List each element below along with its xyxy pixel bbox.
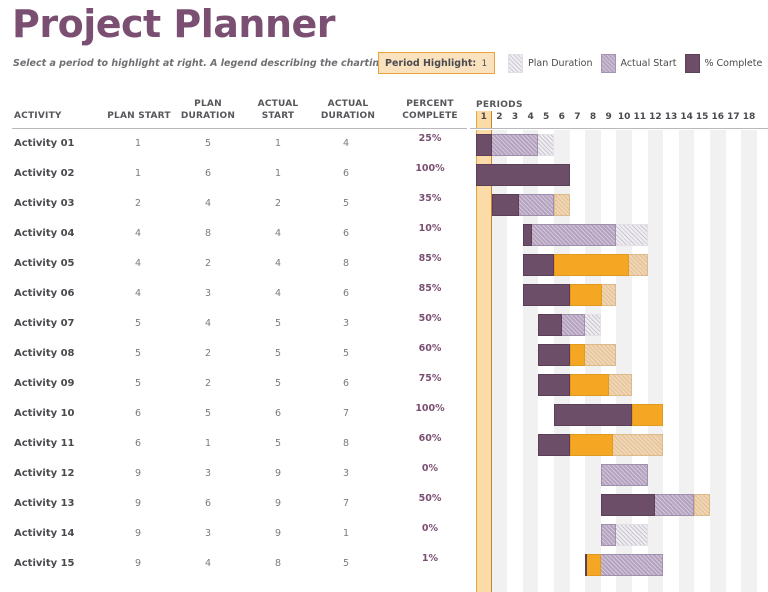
cell-plan-start: 4 [118,288,158,299]
cell-activity: Activity 14 [14,528,75,539]
cell-actual-start: 8 [258,558,298,569]
cell-plan-duration: 3 [188,288,228,299]
period-number-row: 123456789101112131415161718 [470,112,768,128]
cell-plan-start: 9 [118,528,158,539]
cell-actual-duration: 6 [326,168,366,179]
cell-activity: Activity 08 [14,348,75,359]
bar-percent-complete [538,434,569,456]
cell-plan-start: 6 [118,438,158,449]
cell-actual-start: 2 [258,198,298,209]
cell-actual-start: 1 [258,168,298,179]
page-subtitle: Select a period to highlight at right. A… [13,58,431,69]
bar-actual-start [601,524,617,546]
bar-overrun-complete [570,284,603,306]
cell-plan-start: 1 [118,138,158,149]
gantt-row [470,490,768,520]
bar-overrun-plan [694,494,710,516]
legend-item-plan-duration: Plan Duration [508,54,593,73]
bar-percent-complete [523,254,554,276]
legend-item-percent-complete: % Complete [685,54,763,73]
cell-actual-duration: 4 [326,138,366,149]
gantt-row [470,400,768,430]
cell-plan-duration: 3 [188,528,228,539]
gantt-bars-layer [470,130,768,592]
cell-plan-duration: 5 [188,138,228,149]
cell-activity: Activity 02 [14,168,75,179]
cell-actual-duration: 3 [326,468,366,479]
cell-actual-start: 4 [258,288,298,299]
cell-actual-duration: 7 [326,498,366,509]
column-header-plan-duration: PLANDURATION [172,98,244,122]
column-header-actual-duration: ACTUALDURATION [310,98,386,122]
cell-plan-start: 9 [118,498,158,509]
bar-actual-early [585,554,601,576]
period-highlight-label: Period Highlight: [385,58,476,69]
cell-percent-complete: 60% [403,433,457,444]
bar-percent-complete [523,284,570,306]
cell-actual-duration: 6 [326,228,366,239]
table-header-row: ACTIVITY PLAN START PLANDURATION ACTUALS… [0,92,470,126]
cell-actual-start: 9 [258,498,298,509]
cell-percent-complete: 75% [403,373,457,384]
cell-activity: Activity 13 [14,498,75,509]
cell-plan-start: 5 [118,318,158,329]
period-number-1[interactable]: 1 [476,111,492,128]
gantt-chart [470,130,768,592]
cell-activity: Activity 01 [14,138,75,149]
cell-percent-complete: 25% [403,133,457,144]
table-row[interactable]: Activity 1493910% [0,520,470,550]
gantt-row [470,250,768,280]
cell-percent-complete: 100% [403,403,457,414]
cell-actual-start: 5 [258,378,298,389]
period-number-8[interactable]: 8 [585,112,601,122]
legend-swatch-actual-start-icon [601,54,616,73]
cell-activity: Activity 09 [14,378,75,389]
cell-actual-start: 6 [258,408,298,419]
bar-overrun-plan [554,194,570,216]
table-header-divider [12,128,467,129]
cell-plan-start: 6 [118,408,158,419]
period-number-4[interactable]: 4 [523,112,539,122]
bar-overrun-complete [570,434,614,456]
cell-activity: Activity 05 [14,258,75,269]
cell-plan-duration: 4 [188,558,228,569]
chart-legend: Plan DurationActual Start% Complete [508,54,768,73]
bar-percent-complete [476,164,570,186]
gantt-row [470,160,768,190]
period-number-7[interactable]: 7 [570,112,586,122]
legend-item-actual-start: Actual Start [601,54,677,73]
cell-percent-complete: 50% [403,493,457,504]
bar-overrun-complete [554,254,629,276]
table-row[interactable]: Activity 07545350% [0,310,470,340]
cell-plan-start: 9 [118,468,158,479]
column-header-plan-start: PLAN START [100,110,178,122]
cell-actual-start: 5 [258,438,298,449]
cell-activity: Activity 04 [14,228,75,239]
period-number-2[interactable]: 2 [492,112,508,122]
column-header-actual-start: ACTUALSTART [242,98,314,122]
bar-percent-complete [538,314,561,336]
cell-activity: Activity 06 [14,288,75,299]
period-number-13[interactable]: 13 [663,112,679,122]
legend-swatch-plan-duration-icon [508,54,523,73]
table-row[interactable]: Activity 021616100% [0,160,470,190]
cell-plan-start: 9 [118,558,158,569]
cell-percent-complete: 50% [403,313,457,324]
table-row[interactable]: Activity 09525675% [0,370,470,400]
period-number-15[interactable]: 15 [694,112,710,122]
period-number-12[interactable]: 12 [648,112,664,122]
periods-label: PERIODS [476,100,523,110]
period-number-9[interactable]: 9 [601,112,617,122]
period-highlight-input[interactable]: 1 [482,59,487,69]
cell-plan-duration: 6 [188,168,228,179]
gantt-row [470,220,768,250]
cell-plan-duration: 4 [188,318,228,329]
cell-percent-complete: 0% [403,523,457,534]
cell-activity: Activity 03 [14,198,75,209]
gantt-row [470,310,768,340]
gantt-row [470,520,768,550]
cell-activity: Activity 15 [14,558,75,569]
table-row[interactable]: Activity 05424885% [0,250,470,280]
cell-actual-start: 4 [258,228,298,239]
periods-divider [470,128,768,129]
cell-plan-duration: 3 [188,468,228,479]
period-number-16[interactable]: 16 [710,112,726,122]
cell-percent-complete: 1% [403,553,457,564]
period-number-3[interactable]: 3 [507,112,523,122]
cell-plan-duration: 2 [188,378,228,389]
table-row[interactable]: Activity 04484610% [0,220,470,250]
cell-actual-duration: 1 [326,528,366,539]
period-number-14[interactable]: 14 [679,112,695,122]
cell-activity: Activity 11 [14,438,75,449]
column-header-activity: ACTIVITY [14,110,104,122]
cell-percent-complete: 35% [403,193,457,204]
cell-plan-start: 1 [118,168,158,179]
cell-percent-complete: 85% [403,283,457,294]
cell-plan-start: 4 [118,228,158,239]
gantt-row [470,370,768,400]
cell-activity: Activity 12 [14,468,75,479]
cell-plan-start: 2 [118,198,158,209]
cell-actual-duration: 7 [326,408,366,419]
gantt-row [470,430,768,460]
cell-actual-start: 9 [258,468,298,479]
table-row[interactable]: Activity 13969750% [0,490,470,520]
gantt-row [470,460,768,490]
bar-actual-start [523,224,617,246]
cell-percent-complete: 60% [403,343,457,354]
cell-activity: Activity 10 [14,408,75,419]
cell-actual-duration: 5 [326,348,366,359]
bar-percent-complete [554,404,632,426]
bar-overrun-complete [632,404,663,426]
bar-percent-complete [538,344,569,366]
cell-percent-complete: 10% [403,223,457,234]
cell-percent-complete: 85% [403,253,457,264]
legend-label: Plan Duration [528,58,593,69]
table-row[interactable]: Activity 1293930% [0,460,470,490]
cell-actual-duration: 3 [326,318,366,329]
cell-actual-duration: 8 [326,438,366,449]
bar-percent-complete [601,494,656,516]
period-number-11[interactable]: 11 [632,112,648,122]
legend-label: Actual Start [621,58,677,69]
table-row[interactable]: Activity 01151425% [0,130,470,160]
cell-actual-duration: 6 [326,378,366,389]
page-title: Project Planner [12,2,335,46]
cell-plan-duration: 2 [188,258,228,269]
project-planner-page: Project Planner Select a period to highl… [0,0,768,592]
legend-swatch-percent-complete-icon [685,54,700,73]
table-row[interactable]: Activity 08525560% [0,340,470,370]
cell-actual-duration: 8 [326,258,366,269]
gantt-row [470,280,768,310]
period-number-6[interactable]: 6 [554,112,570,122]
cell-plan-start: 5 [118,348,158,359]
cell-actual-start: 9 [258,528,298,539]
table-row[interactable]: Activity 03242535% [0,190,470,220]
table-row[interactable]: Activity 11615860% [0,430,470,460]
activity-table-body: Activity 01151425%Activity 021616100%Act… [0,130,470,592]
table-row[interactable]: Activity 06434685% [0,280,470,310]
bar-percent-complete [538,374,569,396]
period-number-5[interactable]: 5 [538,112,554,122]
cell-actual-start: 5 [258,318,298,329]
cell-plan-duration: 2 [188,348,228,359]
cell-plan-duration: 1 [188,438,228,449]
gantt-row [470,130,768,160]
table-row[interactable]: Activity 1594851% [0,550,470,580]
table-row[interactable] [0,580,470,592]
gantt-row [470,190,768,220]
gantt-row [470,340,768,370]
cell-plan-start: 5 [118,378,158,389]
cell-plan-duration: 6 [188,498,228,509]
cell-percent-complete: 0% [403,463,457,474]
bar-actual-start [601,464,648,486]
table-row[interactable]: Activity 106567100% [0,400,470,430]
cell-actual-duration: 5 [326,558,366,569]
bar-percent-complete [492,194,519,216]
bar-overrun-complete [570,344,586,366]
cell-activity: Activity 07 [14,318,75,329]
cell-actual-start: 1 [258,138,298,149]
bar-percent-complete [476,134,492,156]
cell-actual-duration: 5 [326,198,366,209]
cell-actual-start: 4 [258,258,298,269]
cell-plan-start: 4 [118,258,158,269]
period-number-17[interactable]: 17 [726,112,742,122]
column-header-percent-complete: PERCENTCOMPLETE [392,98,468,122]
bar-overrun-complete [570,374,609,396]
bar-percent-complete [523,224,532,246]
period-number-18[interactable]: 18 [741,112,757,122]
cell-plan-duration: 4 [188,198,228,209]
period-highlight-control[interactable]: Period Highlight: 1 [378,52,495,74]
cell-actual-duration: 6 [326,288,366,299]
cell-plan-duration: 5 [188,408,228,419]
bar-percent-complete [585,554,587,576]
cell-plan-duration: 8 [188,228,228,239]
gantt-row [470,550,768,580]
cell-actual-start: 5 [258,348,298,359]
legend-label: % Complete [705,58,763,69]
period-number-10[interactable]: 10 [616,112,632,122]
cell-percent-complete: 100% [403,163,457,174]
